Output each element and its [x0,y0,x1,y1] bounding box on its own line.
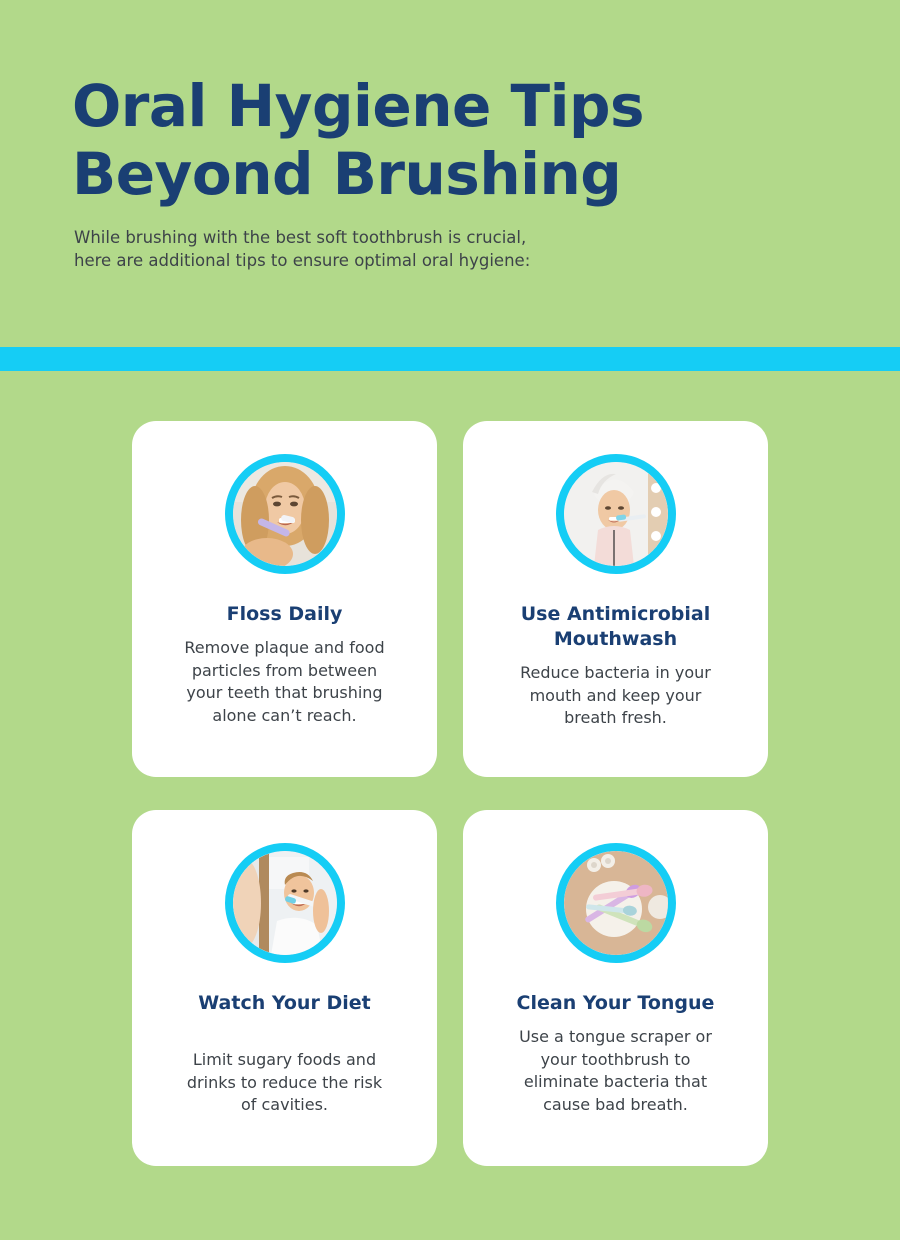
card-heading: Watch Your Diet [198,991,370,1016]
woman-brushing-teeth-photo [233,462,337,566]
woman-towel-turban-toothbrush-photo [564,462,668,566]
tip-card-watch-your-diet[interactable]: Watch Your Diet Limit sugary foods and d… [132,810,437,1166]
tongue-scrapers-on-plate-photo [564,851,668,955]
tips-card-grid: Floss Daily Remove plaque and food parti… [132,421,768,1166]
header: Oral Hygiene Tips Beyond Brushing While … [72,72,772,272]
avatar-ring [225,843,345,963]
card-heading: Floss Daily [227,602,343,627]
man-brushing-teeth-mirror-photo [233,851,337,955]
card-body: Limit sugary foods and drinks to reduce … [187,1049,382,1117]
page-subtitle: While brushing with the best soft toothb… [74,226,772,272]
cyan-divider-bar [0,347,900,371]
card-heading: Clean Your Tongue [517,991,715,1016]
tip-card-clean-your-tongue[interactable]: Clean Your Tongue Use a tongue scraper o… [463,810,768,1166]
tip-card-floss-daily[interactable]: Floss Daily Remove plaque and food parti… [132,421,437,777]
tip-card-antimicrobial-mouthwash[interactable]: Use Antimicrobial Mouthwash Reduce bacte… [463,421,768,777]
page-title: Oral Hygiene Tips Beyond Brushing [72,72,772,208]
avatar-ring [556,843,676,963]
card-body: Remove plaque and food particles from be… [184,637,384,727]
card-body: Reduce bacteria in your mouth and keep y… [520,662,711,730]
infographic-page: Oral Hygiene Tips Beyond Brushing While … [0,0,900,1240]
card-heading: Use Antimicrobial Mouthwash [521,602,711,652]
avatar-ring [556,454,676,574]
card-body: Use a tongue scraper or your toothbrush … [519,1026,712,1116]
avatar-ring [225,454,345,574]
